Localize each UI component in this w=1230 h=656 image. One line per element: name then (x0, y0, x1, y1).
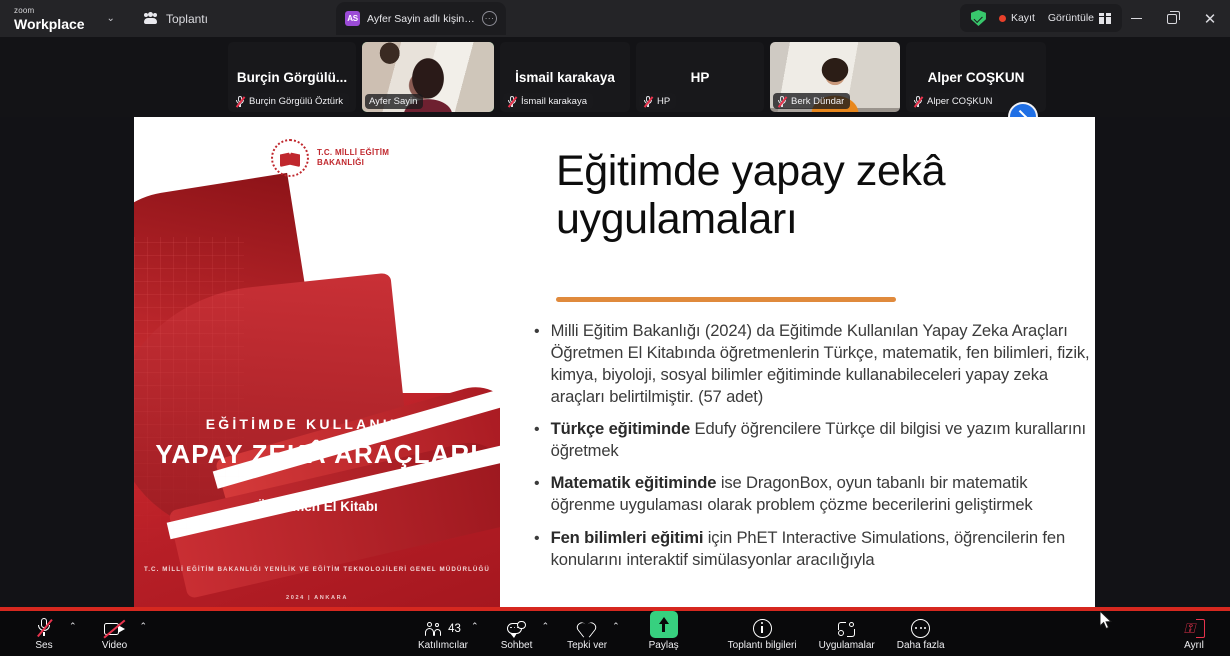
toolbar-center-group: 43 Katılımcılar ⌃ Sohbet ⌃ Tepki ver ⌃ (418, 611, 945, 656)
bullet-item: • Milli Eğitim Bakanlığı (2024) da Eğiti… (534, 320, 1094, 408)
zoom-meeting-window: zoom Workplace ⌄ Toplantı AS Ayfer Sayin… (0, 0, 1230, 656)
name-badge: Berk Dündar (773, 93, 850, 109)
share-screen-button[interactable]: Paylaş (642, 611, 686, 656)
cover-small-title: EĞİTİMDE KULLANILAN (134, 416, 500, 432)
reactions-chevron-up-icon[interactable]: ⌃ (612, 621, 620, 632)
participant-display-name: Burçin Görgülü... (232, 70, 352, 85)
record-dot-icon (999, 15, 1006, 22)
bullet-item: • Türkçe eğitiminde Edufy öğrencilere Tü… (534, 418, 1094, 462)
close-button[interactable]: ✕ (1190, 0, 1230, 37)
name-badge: HP (639, 93, 676, 109)
participant-tile-active[interactable]: Ayfer Sayin (362, 42, 494, 112)
bullet-text: Fen bilimleri eğitimi için PhET Interact… (551, 527, 1094, 571)
participants-icon: 43 (425, 617, 461, 638)
video-chevron-up-icon[interactable]: ⌃ (140, 621, 148, 632)
book-cover-image: T.C. MİLLİ EĞİTİM BAKANLIĞI EĞİTİMDE KUL… (134, 117, 500, 607)
maximize-button[interactable] (1154, 0, 1190, 37)
participant-name: İsmail karakaya (521, 96, 587, 107)
participant-name: Alper COŞKUN (927, 96, 992, 107)
zoom-workplace-logo: zoom Workplace (14, 7, 85, 31)
participant-name: Burçin Görgülü Öztürk (249, 96, 343, 107)
participants-count: 43 (448, 620, 461, 635)
audio-button[interactable]: Ses (22, 611, 66, 656)
bullet-marker: • (534, 472, 540, 516)
heart-icon (578, 617, 597, 638)
cover-big-title: YAPAY ZEKÂ ARAÇLARI (134, 439, 500, 470)
leave-icon: ⚿ (1183, 617, 1205, 638)
recording-status[interactable]: Kayıt (999, 12, 1035, 24)
avatar: AS (345, 11, 360, 26)
video-label: Video (102, 640, 127, 651)
chat-label: Sohbet (501, 640, 533, 651)
leave-button[interactable]: ⚿ Ayrıl (1172, 611, 1216, 656)
apps-label: Uygulamalar (819, 640, 875, 651)
screen-share-tab[interactable]: AS Ayfer Sayin adlı kişinin ekranı ··· (336, 2, 506, 35)
bullet-bold: Fen bilimleri eğitimi (551, 528, 704, 547)
mic-muted-icon (777, 95, 787, 107)
participant-display-name: HP (686, 70, 715, 85)
shared-screen-area: T.C. MİLLİ EĞİTİM BAKANLIĞI EĞİTİMDE KUL… (0, 117, 1230, 611)
participants-button[interactable]: 43 Katılımcılar (418, 611, 468, 656)
bullet-item: • Matematik eğitiminde ise DragonBox, oy… (534, 472, 1094, 516)
more-horizontal-icon (911, 617, 930, 638)
chat-icon (507, 617, 526, 638)
participant-tile[interactable]: HP HP (636, 42, 764, 112)
minimize-button[interactable] (1118, 0, 1154, 37)
brand-workplace-text: Workplace (14, 17, 85, 31)
video-button[interactable]: Video (93, 611, 137, 656)
name-badge: Ayfer Sayin (365, 94, 423, 109)
more-button[interactable]: Daha fazla (897, 611, 945, 656)
bullet-text: Matematik eğitiminde ise DragonBox, oyun… (551, 472, 1094, 516)
status-pill: Kayıt Görüntüle (960, 4, 1122, 32)
slide-title: Eğitimde yapay zekâ uygulamaları (556, 147, 1076, 243)
name-badge: Alper COŞKUN (909, 93, 998, 109)
participant-filmstrip: Burçin Görgülü... Burçin Görgülü Öztürk … (0, 37, 1230, 117)
bullet-bold: Matematik eğitiminde (551, 473, 717, 492)
brand-chevron-down-icon[interactable]: ⌄ (107, 13, 115, 24)
record-label: Kayıt (1011, 12, 1035, 24)
meeting-tab-label: Toplantı (166, 12, 208, 26)
share-label: Paylaş (649, 640, 679, 651)
mic-muted-icon (235, 95, 245, 107)
toolbar-left-group: Ses ⌃ Video ⌃ (22, 611, 147, 656)
share-tab-title: Ayfer Sayin adlı kişinin ekranı (367, 13, 475, 25)
name-badge: İsmail karakaya (503, 93, 593, 109)
bullet-marker: • (534, 418, 540, 462)
view-label: Görüntüle (1048, 12, 1094, 24)
grid-view-icon (1099, 13, 1111, 24)
title-bar: zoom Workplace ⌄ Toplantı AS Ayfer Sayin… (0, 0, 1230, 37)
microphone-muted-icon (37, 617, 52, 638)
meeting-tab[interactable]: Toplantı (143, 12, 208, 26)
window-controls: ✕ (1118, 0, 1230, 37)
leave-label: Ayrıl (1184, 640, 1204, 651)
mic-muted-icon (913, 95, 923, 107)
toolbar-right-group: ⚿ Ayrıl (1172, 611, 1216, 656)
cover-text-block: EĞİTİMDE KULLANILAN YAPAY ZEKÂ ARAÇLARI … (134, 117, 500, 607)
participant-display-name: İsmail karakaya (510, 70, 620, 85)
participant-tile[interactable]: İsmail karakaya İsmail karakaya (500, 42, 630, 112)
chat-button[interactable]: Sohbet (495, 611, 539, 656)
apps-button[interactable]: Uygulamalar (819, 611, 875, 656)
bullet-marker: • (534, 527, 540, 571)
meeting-info-button[interactable]: Toplantı bilgileri (728, 611, 797, 656)
meeting-toolbar: Ses ⌃ Video ⌃ 43 Katılımcılar ⌃ (0, 611, 1230, 656)
chat-chevron-up-icon[interactable]: ⌃ (542, 621, 550, 632)
mic-muted-icon (507, 95, 517, 107)
slide-content-column: Eğitimde yapay zekâ uygulamaları • Milli… (524, 117, 1095, 607)
bullet-text: Milli Eğitim Bakanlığı (2024) da Eğitimd… (551, 320, 1094, 408)
reactions-button[interactable]: Tepki ver (565, 611, 609, 656)
share-screen-icon (650, 617, 678, 638)
slide-bullet-list: • Milli Eğitim Bakanlığı (2024) da Eğiti… (534, 320, 1094, 581)
participant-display-name: Alper COŞKUN (923, 70, 1030, 85)
bullet-text: Türkçe eğitiminde Edufy öğrencilere Türk… (551, 418, 1094, 462)
reactions-label: Tepki ver (567, 640, 607, 651)
name-badge: Burçin Görgülü Öztürk (231, 93, 349, 109)
info-icon (753, 617, 772, 638)
audio-chevron-up-icon[interactable]: ⌃ (69, 621, 77, 632)
presentation-slide: T.C. MİLLİ EĞİTİM BAKANLIĞI EĞİTİMDE KUL… (134, 117, 1095, 607)
brand-zoom-text: zoom (14, 7, 85, 15)
participant-name: HP (657, 96, 670, 107)
bullet-marker: • (534, 320, 540, 408)
cover-footer: T.C. MİLLİ EĞİTİM BAKANLIĞI YENİLİK VE E… (134, 565, 500, 575)
participants-chevron-up-icon[interactable]: ⌃ (471, 621, 479, 632)
participant-name: Berk Dündar (791, 96, 844, 107)
participants-label: Katılımcılar (418, 640, 468, 651)
more-options-icon[interactable]: ··· (482, 11, 497, 26)
apps-icon (837, 617, 857, 638)
meeting-info-label: Toplantı bilgileri (728, 640, 797, 651)
participant-tile[interactable]: Berk Dündar (770, 42, 900, 112)
bullet-bold: Türkçe eğitiminde (551, 419, 690, 438)
participant-tile[interactable]: Burçin Görgülü... Burçin Görgülü Öztürk (228, 42, 356, 112)
people-icon (143, 12, 158, 25)
title-underline (556, 297, 896, 302)
audio-label: Ses (35, 640, 52, 651)
shield-icon[interactable] (971, 10, 986, 26)
bullet-item: • Fen bilimleri eğitimi için PhET Intera… (534, 527, 1094, 571)
camera-muted-icon (104, 617, 126, 638)
view-selector[interactable]: Görüntüle (1048, 12, 1111, 24)
participant-name: Ayfer Sayin (369, 96, 417, 107)
mic-muted-icon (643, 95, 653, 107)
cover-subtitle: Öğretmen El Kitabı (134, 499, 500, 514)
more-label: Daha fazla (897, 640, 945, 651)
cover-year: 2024 | ANKARA (134, 595, 500, 601)
